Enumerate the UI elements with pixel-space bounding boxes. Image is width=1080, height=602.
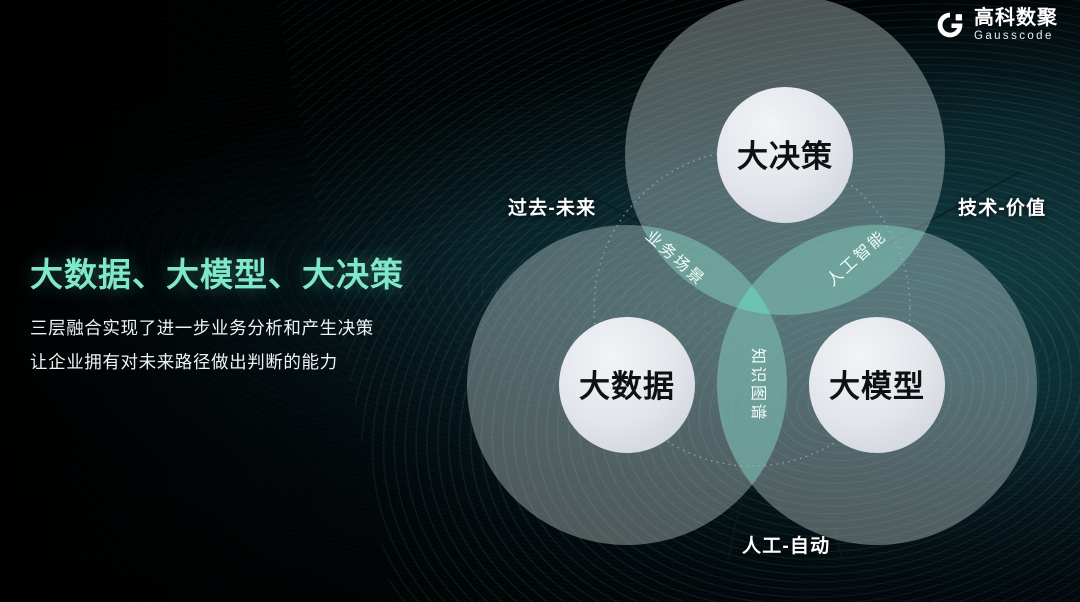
gausscode-circle-mark-icon: [935, 10, 965, 40]
copy-block: 大数据、大模型、大决策 三层融合实现了进一步业务分析和产生决策 让企业拥有对未来…: [30, 255, 460, 379]
brand-logo: 高科数聚 Gausscode: [935, 8, 1058, 43]
slide-canvas: 高科数聚 Gausscode 大数据、大模型、大决策 三层融合实现了进一步业务分…: [0, 0, 1080, 602]
brand-wordmark: 高科数聚 Gausscode: [974, 8, 1058, 43]
core-label-decision: 大决策: [737, 139, 833, 174]
brand-name-cn: 高科数聚: [974, 8, 1058, 28]
venn-svg: 业务场景 人工智能 知识图谱 大决策 大数据 大模型: [460, 0, 1080, 602]
brand-name-en: Gausscode: [974, 31, 1058, 43]
axis-label-tech-value: 技术-价值: [958, 193, 1046, 220]
axis-label-past-future: 过去-未来: [508, 193, 596, 220]
page-title: 大数据、大模型、大决策: [30, 255, 460, 295]
overlap-label-knowledge-graph: 知识图谱: [749, 348, 767, 422]
axis-label-manual-auto: 人工-自动: [742, 531, 830, 558]
subtitle-line-1: 三层融合实现了进一步业务分析和产生决策: [30, 311, 460, 345]
core-label-model: 大模型: [829, 369, 925, 404]
subtitle-line-2: 让企业拥有对未来路径做出判断的能力: [30, 345, 460, 379]
core-label-bigdata: 大数据: [579, 369, 675, 404]
venn-diagram: 业务场景 人工智能 知识图谱 大决策 大数据 大模型: [460, 0, 1080, 602]
